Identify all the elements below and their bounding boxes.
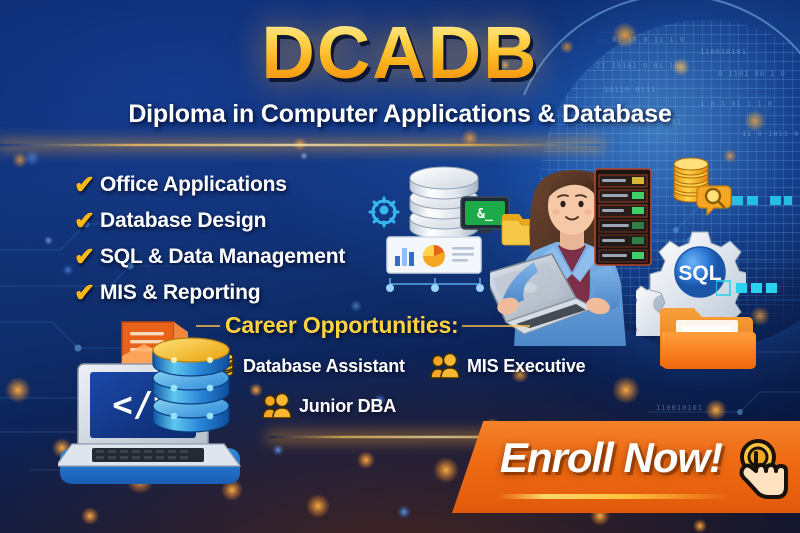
feature-label: SQL & Data Management: [100, 245, 345, 269]
career-role-label: Database Assistant: [243, 356, 405, 377]
check-icon: ✔: [74, 173, 100, 198]
cta-label: Enroll Now!: [486, 437, 736, 479]
career-role-mis-executive: MIS Executive: [430, 352, 585, 380]
career-dash-right: [462, 325, 530, 327]
career-role-junior-dba: Junior DBA: [262, 392, 396, 420]
page-subtitle: Diploma in Computer Applications & Datab…: [0, 100, 800, 129]
list-item: ✔ Database Design: [74, 204, 345, 238]
list-item: ✔ Office Applications: [74, 168, 345, 202]
database-cylinder-blue-icon: [148, 330, 234, 442]
analytics-dashboard-panel: [386, 236, 482, 274]
enroll-now-button[interactable]: Enroll Now!: [452, 421, 800, 513]
check-icon: ✔: [74, 245, 100, 270]
feature-label: Office Applications: [100, 173, 287, 197]
hand-pointer-icon: [732, 433, 794, 499]
career-role-label: Junior DBA: [299, 396, 396, 417]
feature-label: Database Design: [100, 209, 266, 233]
person-icon: [262, 392, 292, 420]
pie-chart-mini: [423, 245, 445, 267]
promo-banner: 01 10 0 11 1 0 110010101 21 10101 0 01 1…: [0, 0, 800, 533]
node-connector-diagram: [380, 272, 490, 296]
folder-orange-icon: [660, 296, 756, 374]
feature-label: MIS & Reporting: [100, 281, 260, 305]
career-dash-left: [196, 325, 220, 327]
person-icon: [430, 352, 460, 380]
career-heading: Career Opportunities:: [225, 312, 459, 339]
indicator-blocks: [732, 194, 792, 208]
career-role-label: MIS Executive: [467, 356, 585, 377]
check-icon: ✔: [74, 209, 100, 234]
gear-outline-icon: [364, 192, 404, 232]
indicator-blocks: [716, 280, 788, 296]
list-item: ✔ MIS & Reporting: [74, 276, 345, 310]
database-search-gold-icon: [668, 156, 732, 218]
cta-underline: [498, 494, 732, 499]
list-item: ✔ SQL & Data Management: [74, 240, 345, 274]
page-title: DCADB: [0, 16, 800, 90]
feature-list: ✔ Office Applications ✔ Database Design …: [74, 168, 345, 312]
check-icon: ✔: [74, 281, 100, 306]
